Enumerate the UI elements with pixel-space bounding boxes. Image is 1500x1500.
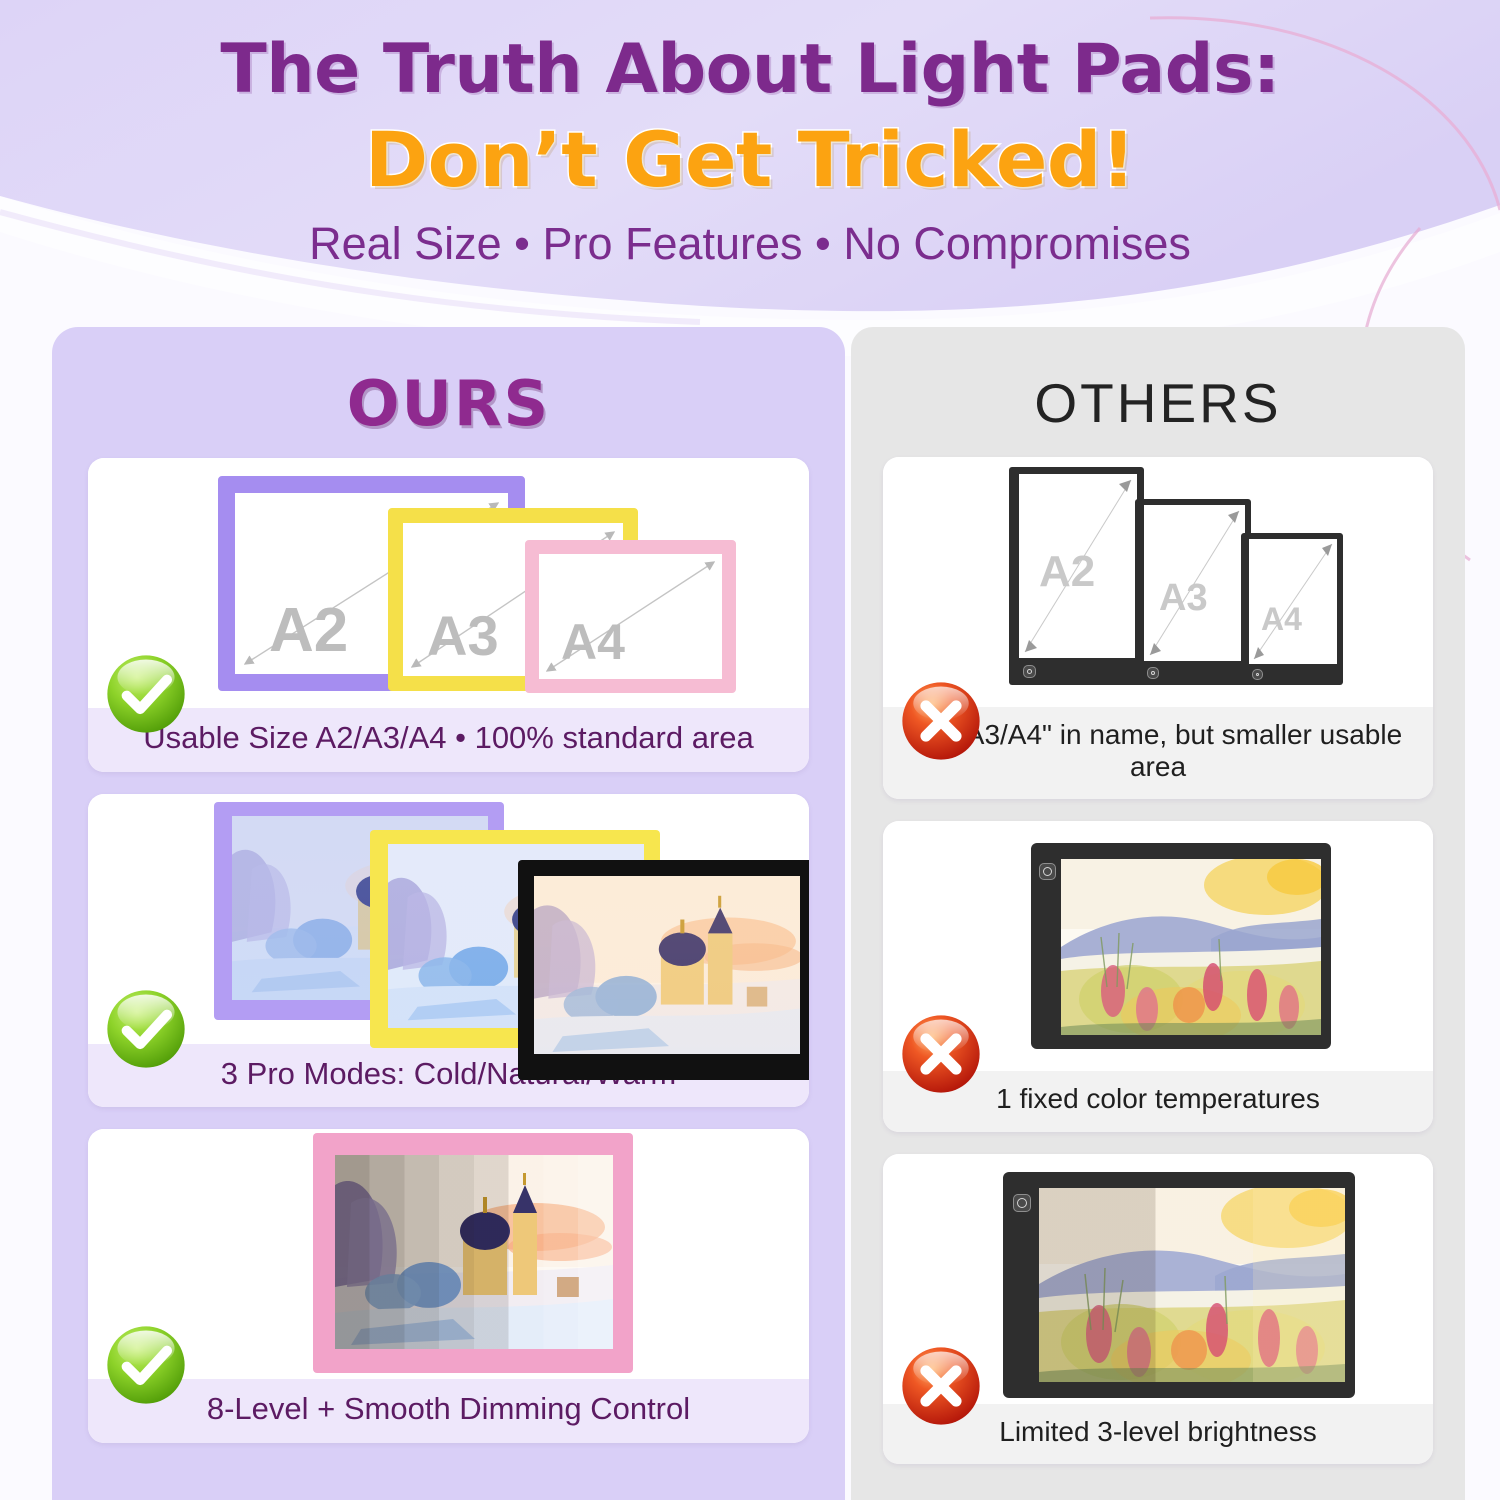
cross-circle-icon bbox=[899, 679, 983, 763]
ours-caption-dimming: 8-Level + Smooth Dimming Control bbox=[88, 1379, 809, 1443]
power-icon bbox=[1023, 665, 1036, 678]
header: The Truth About Light Pads: Don’t Get Tr… bbox=[0, 0, 1500, 300]
cross-circle-icon bbox=[899, 1012, 983, 1096]
pad-warm-black bbox=[518, 860, 809, 1080]
others-card-temperature[interactable]: 1 fixed color temperatures bbox=[883, 821, 1433, 1131]
check-circle-icon bbox=[104, 987, 188, 1071]
pad-label-a3: A3 bbox=[427, 603, 499, 668]
comparison-panels: OURS bbox=[0, 327, 1500, 1500]
pad-label-a4: A4 bbox=[561, 613, 625, 671]
ours-card-list: A2 A3 bbox=[52, 458, 845, 1443]
page-title-line2: Don’t Get Tricked! bbox=[0, 115, 1500, 204]
panel-others: OTHERS bbox=[851, 327, 1465, 1500]
others-pad-bright-screen bbox=[1039, 1188, 1345, 1382]
brightness-level-bands bbox=[1039, 1188, 1345, 1382]
others-pad-single-bright bbox=[1003, 1172, 1355, 1398]
others-pad-a4: A4 bbox=[1241, 533, 1343, 685]
others-pad-label-a2: A2 bbox=[1039, 547, 1095, 597]
others-heading: OTHERS bbox=[851, 327, 1465, 435]
check-circle-icon bbox=[104, 1323, 188, 1407]
check-circle-icon bbox=[104, 652, 188, 736]
ours-art-modes bbox=[88, 794, 809, 1044]
page-tagline: Real Size • Pro Features • No Compromise… bbox=[0, 218, 1500, 270]
infographic-root: The Truth About Light Pads: Don’t Get Tr… bbox=[0, 0, 1500, 1500]
others-pad-a2: A2 bbox=[1009, 467, 1144, 685]
others-card-list: A2 bbox=[851, 457, 1465, 1464]
cross-circle-icon bbox=[899, 1344, 983, 1428]
tint-warm bbox=[534, 876, 800, 1054]
others-card-brightness[interactable]: Limited 3-level brightness bbox=[883, 1154, 1433, 1464]
others-card-size[interactable]: A2 bbox=[883, 457, 1433, 799]
others-pad-single-temp bbox=[1031, 843, 1331, 1049]
pad-dimming-pink bbox=[313, 1133, 633, 1373]
power-icon bbox=[1252, 669, 1263, 680]
others-pad-label-a3: A3 bbox=[1159, 577, 1208, 620]
ours-card-dimming[interactable]: 8-Level + Smooth Dimming Control bbox=[88, 1129, 809, 1443]
artwork-church-warm bbox=[534, 876, 800, 1054]
dimming-level-bands bbox=[335, 1155, 613, 1349]
ours-card-size[interactable]: A2 A3 bbox=[88, 458, 809, 772]
ours-card-modes[interactable]: 3 Pro Modes: Cold/Natural/Warm bbox=[88, 794, 809, 1108]
pad-frame-a4: A4 bbox=[525, 540, 736, 693]
others-art-sizes: A2 bbox=[883, 457, 1433, 707]
ours-heading: OURS bbox=[52, 327, 845, 440]
power-icon bbox=[1147, 667, 1159, 679]
power-icon bbox=[1039, 863, 1056, 880]
ours-art-dimming bbox=[88, 1129, 809, 1379]
power-icon bbox=[1013, 1194, 1031, 1212]
page-title-line1: The Truth About Light Pads: bbox=[0, 30, 1500, 109]
ours-caption-size: Usable Size A2/A3/A4 • 100% standard are… bbox=[88, 708, 809, 772]
pad-label-a2: A2 bbox=[269, 595, 348, 666]
panel-ours: OURS bbox=[52, 327, 845, 1500]
ours-art-sizes: A2 A3 bbox=[88, 458, 809, 708]
others-pad-label-a4: A4 bbox=[1261, 601, 1302, 638]
others-pad-a3: A3 bbox=[1135, 499, 1251, 685]
others-pad-temp-screen bbox=[1061, 859, 1321, 1035]
artwork-church-dimming bbox=[335, 1155, 613, 1349]
